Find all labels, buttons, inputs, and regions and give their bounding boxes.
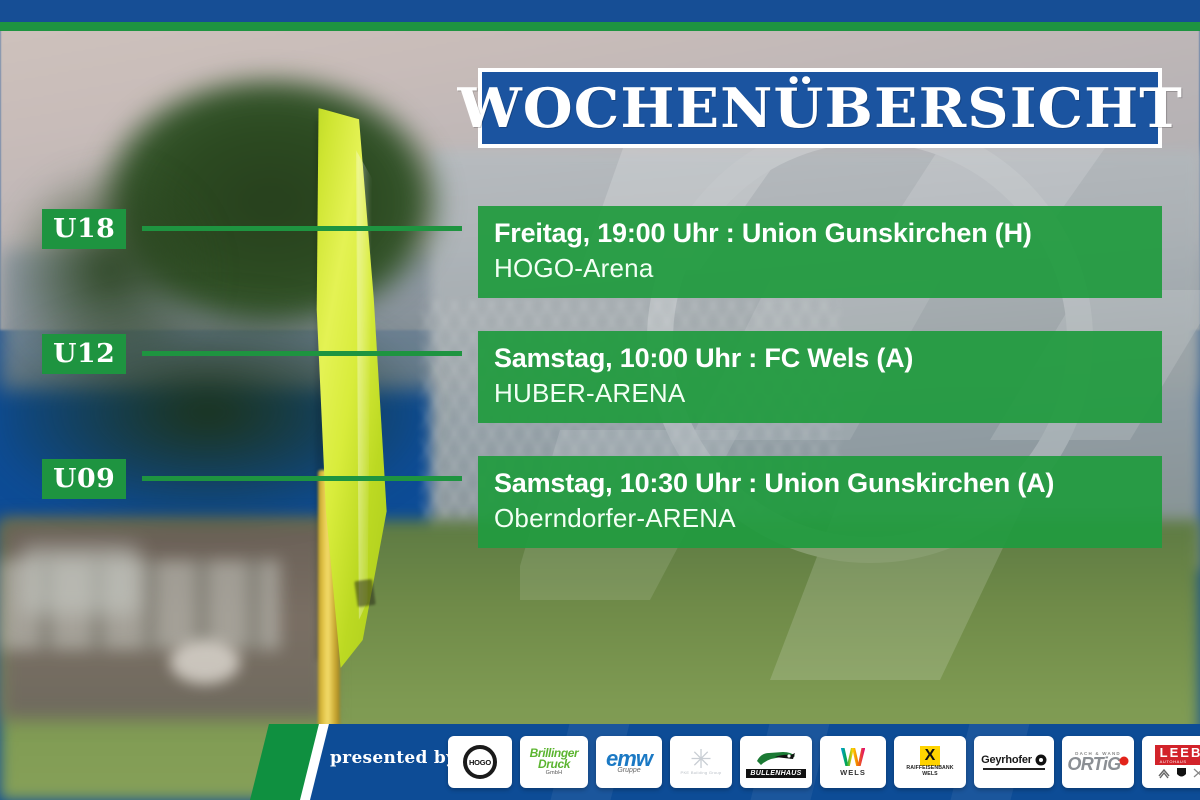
sponsor-brillinger-sub: GmbH xyxy=(546,770,563,776)
match-venue-u18: HOGO-Arena xyxy=(494,253,1146,284)
geyrhofer-circle-icon xyxy=(1035,754,1047,766)
page-title: WOCHENÜBERSICHT xyxy=(478,68,1162,148)
match-fixture-u09: Samstag, 10:30 Uhr : Union Gunskirchen (… xyxy=(494,468,1146,499)
match-fixture-u18: Freitag, 19:00 Uhr : Union Gunskirchen (… xyxy=(494,218,1146,249)
ball-blur-blob xyxy=(170,640,240,684)
age-badge-u09[interactable]: U09 xyxy=(42,459,126,499)
hogo-circle-icon: HOGO xyxy=(463,745,497,779)
age-badge-u18[interactable]: U18 xyxy=(42,209,126,249)
age-badge-u09-label: U09 xyxy=(53,464,115,494)
match-panel-u09[interactable]: Samstag, 10:30 Uhr : Union Gunskirchen (… xyxy=(478,456,1162,548)
sponsor-raiffeisen-mark: X xyxy=(925,748,936,764)
age-badge-u18-label: U18 xyxy=(53,214,115,244)
sponsor-hogo-name: HOGO xyxy=(469,758,491,767)
connector-line-u18 xyxy=(142,226,462,231)
sponsor-wels-name: WELS xyxy=(840,768,866,777)
sponsor-geyrhofer-name: Geyrhofer xyxy=(981,754,1032,766)
sponsor-pke-sub: PKE Building Group xyxy=(681,770,722,775)
sponsor-logo-ortig[interactable]: DACH & WAND ORTiG xyxy=(1062,736,1134,788)
sponsor-logo-hogo-cc[interactable]: HOGO xyxy=(448,736,512,788)
sponsor-brillinger-name2: Druck xyxy=(538,759,570,770)
geyrhofer-underline xyxy=(983,768,1045,770)
bull-icon xyxy=(753,747,799,769)
match-venue-u09: Oberndorfer-ARENA xyxy=(494,503,1146,534)
ds-icon xyxy=(1192,767,1200,779)
leeb-badge: LEEB AUTOHAUS xyxy=(1155,745,1200,765)
title-text: WOCHENÜBERSICHT xyxy=(457,76,1182,140)
sponsor-emw-sub: Gruppe xyxy=(617,767,640,774)
sponsor-logo-brillinger[interactable]: Brillinger Druck GmbH xyxy=(520,736,588,788)
starburst-icon: ✳ xyxy=(690,749,712,770)
sponsor-logo-pke[interactable]: ✳ PKE Building Group xyxy=(670,736,732,788)
top-blue-bar xyxy=(0,0,1200,22)
sponsor-wels-mark: W xyxy=(841,747,866,768)
match-panel-u12[interactable]: Samstag, 10:00 Uhr : FC Wels (A) HUBER-A… xyxy=(478,331,1162,423)
sponsor-bullenhaus-name: BULLENHAUS xyxy=(746,769,805,778)
peugeot-icon xyxy=(1176,767,1187,779)
age-badge-u12[interactable]: U12 xyxy=(42,334,126,374)
sponsor-raiffeisen-sub: WELS xyxy=(922,772,937,778)
sponsor-logo-emw[interactable]: emw Gruppe xyxy=(596,736,662,788)
connector-line-u12 xyxy=(142,351,462,356)
presented-by-label: presented by xyxy=(330,748,456,768)
match-panel-u18[interactable]: Freitag, 19:00 Uhr : Union Gunskirchen (… xyxy=(478,206,1162,298)
ortig-drop-icon xyxy=(1119,756,1129,770)
sponsor-ortig-name: ORTiG xyxy=(1067,756,1120,772)
corner-flag-mark xyxy=(354,579,375,607)
age-badge-u12-label: U12 xyxy=(53,339,115,369)
citroen-icon xyxy=(1157,767,1171,779)
sponsor-logo-bullenhaus[interactable]: BULLENHAUS xyxy=(740,736,812,788)
connector-line-u09 xyxy=(142,476,462,481)
car-brand-row xyxy=(1157,767,1200,779)
sponsor-emw-name: emw xyxy=(606,750,652,768)
match-venue-u12: HUBER-ARENA xyxy=(494,378,1146,409)
top-green-bar xyxy=(0,22,1200,31)
sponsor-logo-leeb[interactable]: LEEB AUTOHAUS xyxy=(1142,736,1200,788)
match-fixture-u12: Samstag, 10:00 Uhr : FC Wels (A) xyxy=(494,343,1146,374)
sponsor-logo-geyrhofer[interactable]: Geyrhofer xyxy=(974,736,1054,788)
sponsor-logo-row: HOGO Brillinger Druck GmbH emw Gruppe ✳ … xyxy=(448,736,1200,788)
raiffeisen-gable-icon: X xyxy=(920,746,940,766)
sponsor-leeb-name: LEEB xyxy=(1160,746,1200,759)
sponsor-logo-raiffeisenbank[interactable]: X RAIFFEISENBANK WELS xyxy=(894,736,966,788)
sponsor-logo-wels[interactable]: W WELS xyxy=(820,736,886,788)
graphic-canvas: WOCHENÜBERSICHT U18 U12 U09 Freitag, 19:… xyxy=(0,0,1200,800)
title-banner: WOCHENÜBERSICHT xyxy=(482,72,1158,144)
